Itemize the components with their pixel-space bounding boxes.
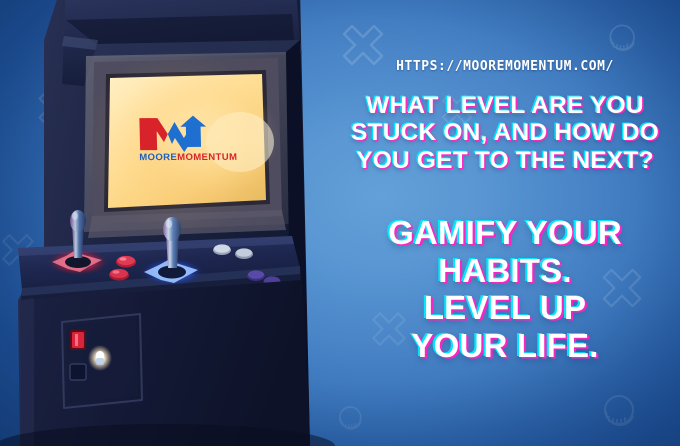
tagline-line-1: GAMIFY YOUR bbox=[332, 214, 678, 252]
website-url[interactable]: HTTPS://MOOREMOMENTUM.COM/ bbox=[337, 58, 673, 74]
arcade-cabinet: MOOREMOMENTUM bbox=[0, 0, 330, 446]
logo-wordmark: MOOREMOMENTUM bbox=[128, 153, 248, 163]
logo-mark-icon bbox=[127, 112, 248, 152]
logo-word-momentum: MOMENTUM bbox=[177, 152, 237, 163]
tagline-line-2: HABITS. bbox=[332, 252, 678, 290]
promo-graphic: MOOREMOMENTUM HTTPS://MOOREMOMENTUM.COM/… bbox=[0, 0, 680, 446]
promo-content: HTTPS://MOOREMOMENTUM.COM/ WHAT LEVEL AR… bbox=[330, 0, 680, 446]
tagline: GAMIFY YOUR HABITS. LEVEL UP YOUR LIFE. bbox=[332, 214, 678, 364]
tagline-line-3: LEVEL UP bbox=[332, 289, 678, 327]
logo-word-moore: MOORE bbox=[139, 152, 177, 163]
moore-momentum-logo: MOOREMOMENTUM bbox=[127, 112, 249, 174]
tagline-line-4: YOUR LIFE. bbox=[332, 327, 678, 365]
headline-question: WHAT LEVEL ARE YOU STUCK ON, AND HOW DO … bbox=[334, 92, 676, 174]
